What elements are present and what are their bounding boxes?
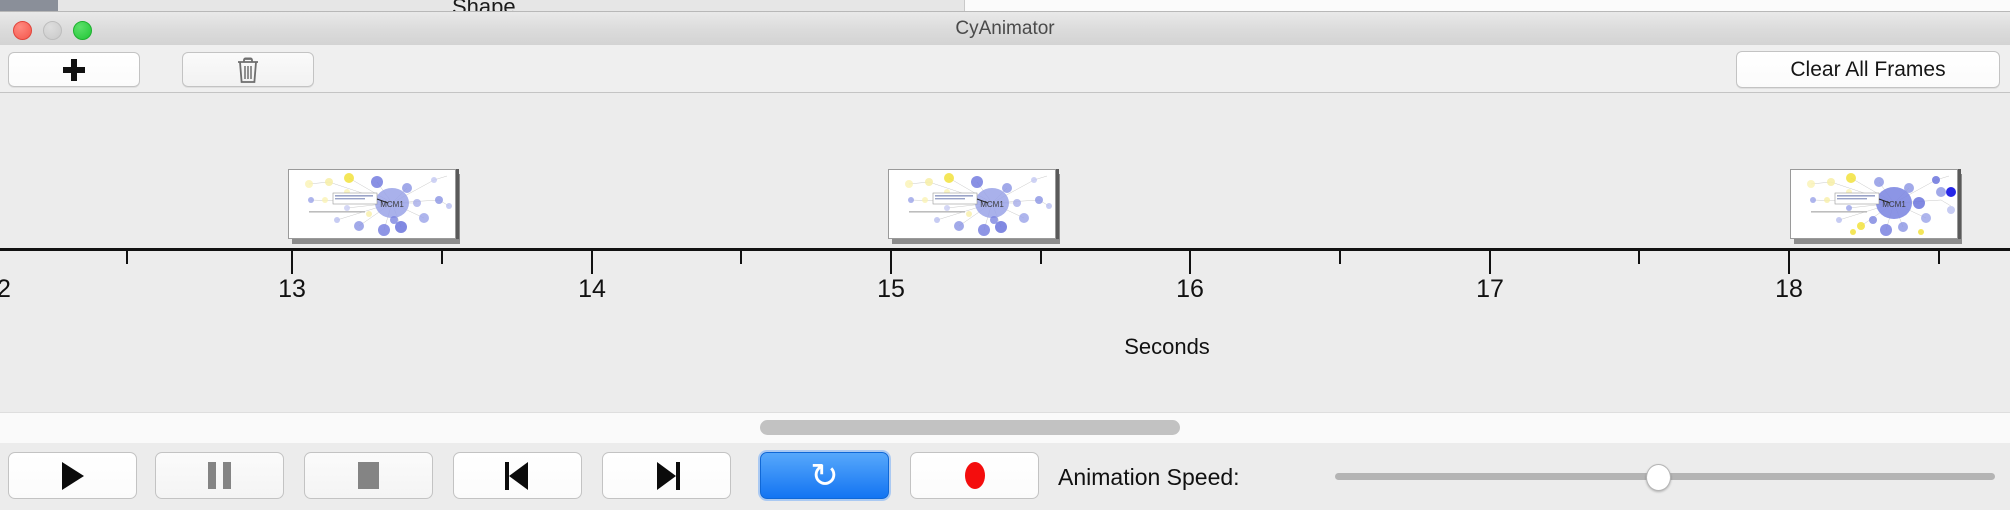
ruler-tick-minor <box>1638 251 1640 264</box>
animation-speed-label: Animation Speed: <box>1058 464 1240 491</box>
ruler-tick-major <box>1189 251 1191 274</box>
frame-thumbnail[interactable]: MCM1 <box>288 169 456 239</box>
cyanimator-window: Shape CyAnimator Clear All Frames <box>0 0 2010 510</box>
playback-control-bar: ↻ Animation Speed: <box>0 443 2010 510</box>
ruler-label: 16 <box>1176 275 1204 304</box>
play-icon <box>62 462 84 490</box>
ruler-tick-minor <box>441 251 443 264</box>
scrollbar-thumb[interactable] <box>760 420 1180 435</box>
ruler-label: 15 <box>877 275 905 304</box>
loop-button[interactable]: ↻ <box>760 452 889 499</box>
loop-icon: ↻ <box>810 461 839 491</box>
next-frame-button[interactable] <box>602 452 731 499</box>
ruler-tick-minor <box>1938 251 1940 264</box>
pause-icon <box>208 462 231 489</box>
record-button[interactable] <box>910 452 1039 499</box>
ruler-tick-major <box>890 251 892 274</box>
axis-title-seconds: Seconds <box>1124 334 1210 360</box>
ruler-tick-major <box>591 251 593 274</box>
background-window-strip: Shape <box>0 0 2010 12</box>
clear-all-frames-button[interactable]: Clear All Frames <box>1736 51 2000 88</box>
title-bar: CyAnimator <box>0 12 2010 46</box>
ruler-label: 14 <box>578 275 606 304</box>
network-graph: MCM1 <box>1791 170 1957 238</box>
slider-thumb[interactable] <box>1646 464 1671 491</box>
frame-node-label: MCM1 <box>1882 200 1906 209</box>
ruler-tick-major <box>291 251 293 274</box>
frame-node-label: MCM1 <box>380 200 404 209</box>
network-graph: MCM1 <box>889 170 1055 238</box>
skip-forward-icon <box>652 462 682 490</box>
timeline-ruler: 2 13 14 15 16 17 18 Seconds <box>0 248 2010 412</box>
thumbnail-edge <box>456 169 459 239</box>
delete-frame-button[interactable] <box>182 52 314 87</box>
ruler-tick-minor <box>1040 251 1042 264</box>
timeline-pane[interactable]: MCM1 <box>0 93 2010 412</box>
window-title: CyAnimator <box>0 12 2010 45</box>
plus-icon <box>63 59 85 81</box>
network-thumbnail-image: MCM1 <box>888 169 1056 239</box>
network-thumbnail-image: MCM1 <box>1790 169 1958 239</box>
frame-thumbnail[interactable]: MCM1 <box>888 169 1056 239</box>
ruler-label: 13 <box>278 275 306 304</box>
toolbar: Clear All Frames <box>0 45 2010 93</box>
ruler-tick-minor <box>740 251 742 264</box>
frame-thumbnail[interactable]: MCM1 <box>1790 169 1958 239</box>
trash-icon <box>235 55 261 85</box>
skip-back-icon <box>503 462 533 490</box>
record-icon <box>965 462 985 489</box>
add-frame-button[interactable] <box>8 52 140 87</box>
timeline-scrollbar[interactable] <box>0 412 2010 444</box>
play-button[interactable] <box>8 452 137 499</box>
ruler-label: 17 <box>1476 275 1504 304</box>
ruler-tick-minor <box>1339 251 1341 264</box>
ruler-label: 2 <box>0 275 11 304</box>
ruler-tick-major <box>1788 251 1790 274</box>
frame-node-label: MCM1 <box>980 200 1004 209</box>
ruler-axis-line <box>0 248 2010 251</box>
previous-frame-button[interactable] <box>453 452 582 499</box>
stop-button[interactable] <box>304 452 433 499</box>
pause-button[interactable] <box>155 452 284 499</box>
animation-speed-slider[interactable] <box>1335 473 1995 480</box>
network-thumbnail-image: MCM1 <box>288 169 456 239</box>
thumbnail-edge <box>1056 169 1059 239</box>
network-graph: MCM1 <box>289 170 455 238</box>
thumbnail-edge <box>1958 169 1961 239</box>
ruler-label: 18 <box>1775 275 1803 304</box>
ruler-tick-minor <box>126 251 128 264</box>
stop-icon <box>358 462 379 489</box>
ruler-tick-major <box>1489 251 1491 274</box>
